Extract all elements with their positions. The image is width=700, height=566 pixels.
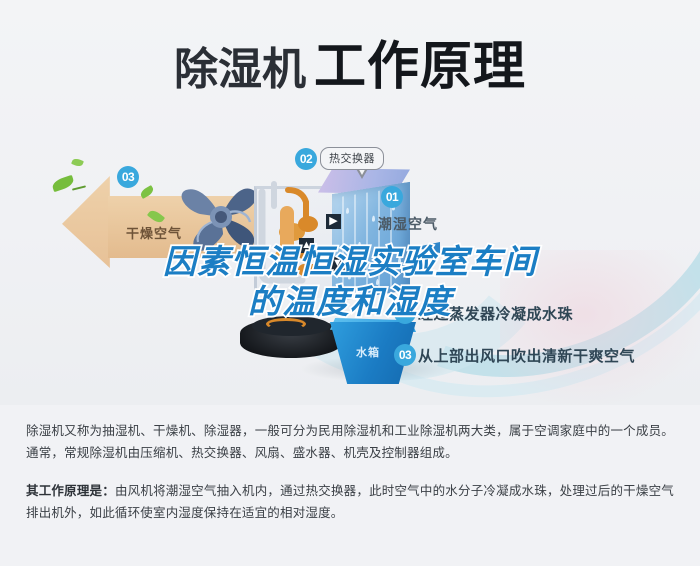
paragraph-1: 除湿机又称为抽湿机、干燥机、除湿器，一般可分为民用除湿机和工业除湿机两大类，属于…	[26, 420, 674, 464]
step-badge-01: 01	[381, 186, 403, 208]
compressor-copper-coil	[266, 318, 306, 330]
dry-air-label: 干燥空气	[126, 223, 182, 242]
paragraph-2-lead: 其工作原理是：	[26, 484, 115, 498]
article-body: 除湿机又称为抽湿机、干燥机、除湿器，一般可分为民用除湿机和工业除湿机两大类，属于…	[0, 408, 700, 566]
page-title-primary: 除湿机	[174, 45, 306, 94]
flow-arrow-up-icon: ▲	[299, 238, 314, 253]
infographic-hero: 除湿机工作原理 干燥空气 03	[0, 0, 700, 405]
flow-arrow-down-icon: ▼	[330, 256, 345, 271]
page-title-secondary: 工作原理	[314, 38, 526, 96]
leaf-stem-icon	[72, 185, 86, 190]
heat-exchanger-callout: 热交换器	[320, 147, 384, 170]
leaf-icon	[71, 157, 84, 168]
paragraph-2-rest: 由风机将潮湿空气抽入机内，通过热交换器，此时空气中的水分子冷凝成水珠，处理过后的…	[26, 484, 674, 520]
step-badge-03-right: 03	[394, 344, 416, 366]
water-tank-label: 水箱	[356, 344, 380, 360]
step-02-description: 经过蒸发器冷凝成水珠	[418, 303, 573, 324]
flow-arrow-right-icon: ▶	[326, 214, 341, 229]
step-badge-02-right: 02	[394, 302, 416, 324]
humid-air-label: 潮湿空气	[378, 214, 438, 234]
paragraph-2: 其工作原理是：由风机将潮湿空气抽入机内，通过热交换器，此时空气中的水分子冷凝成水…	[26, 480, 674, 524]
decorative-haze	[500, 250, 700, 405]
step-badge-02-top: 02	[295, 148, 317, 170]
step-badge-03-top: 03	[117, 166, 139, 188]
page-title: 除湿机工作原理	[0, 24, 700, 99]
step-03-description: 从上部出风口吹出清新干爽空气	[418, 345, 635, 366]
page-root: 除湿机工作原理 干燥空气 03	[0, 0, 700, 566]
